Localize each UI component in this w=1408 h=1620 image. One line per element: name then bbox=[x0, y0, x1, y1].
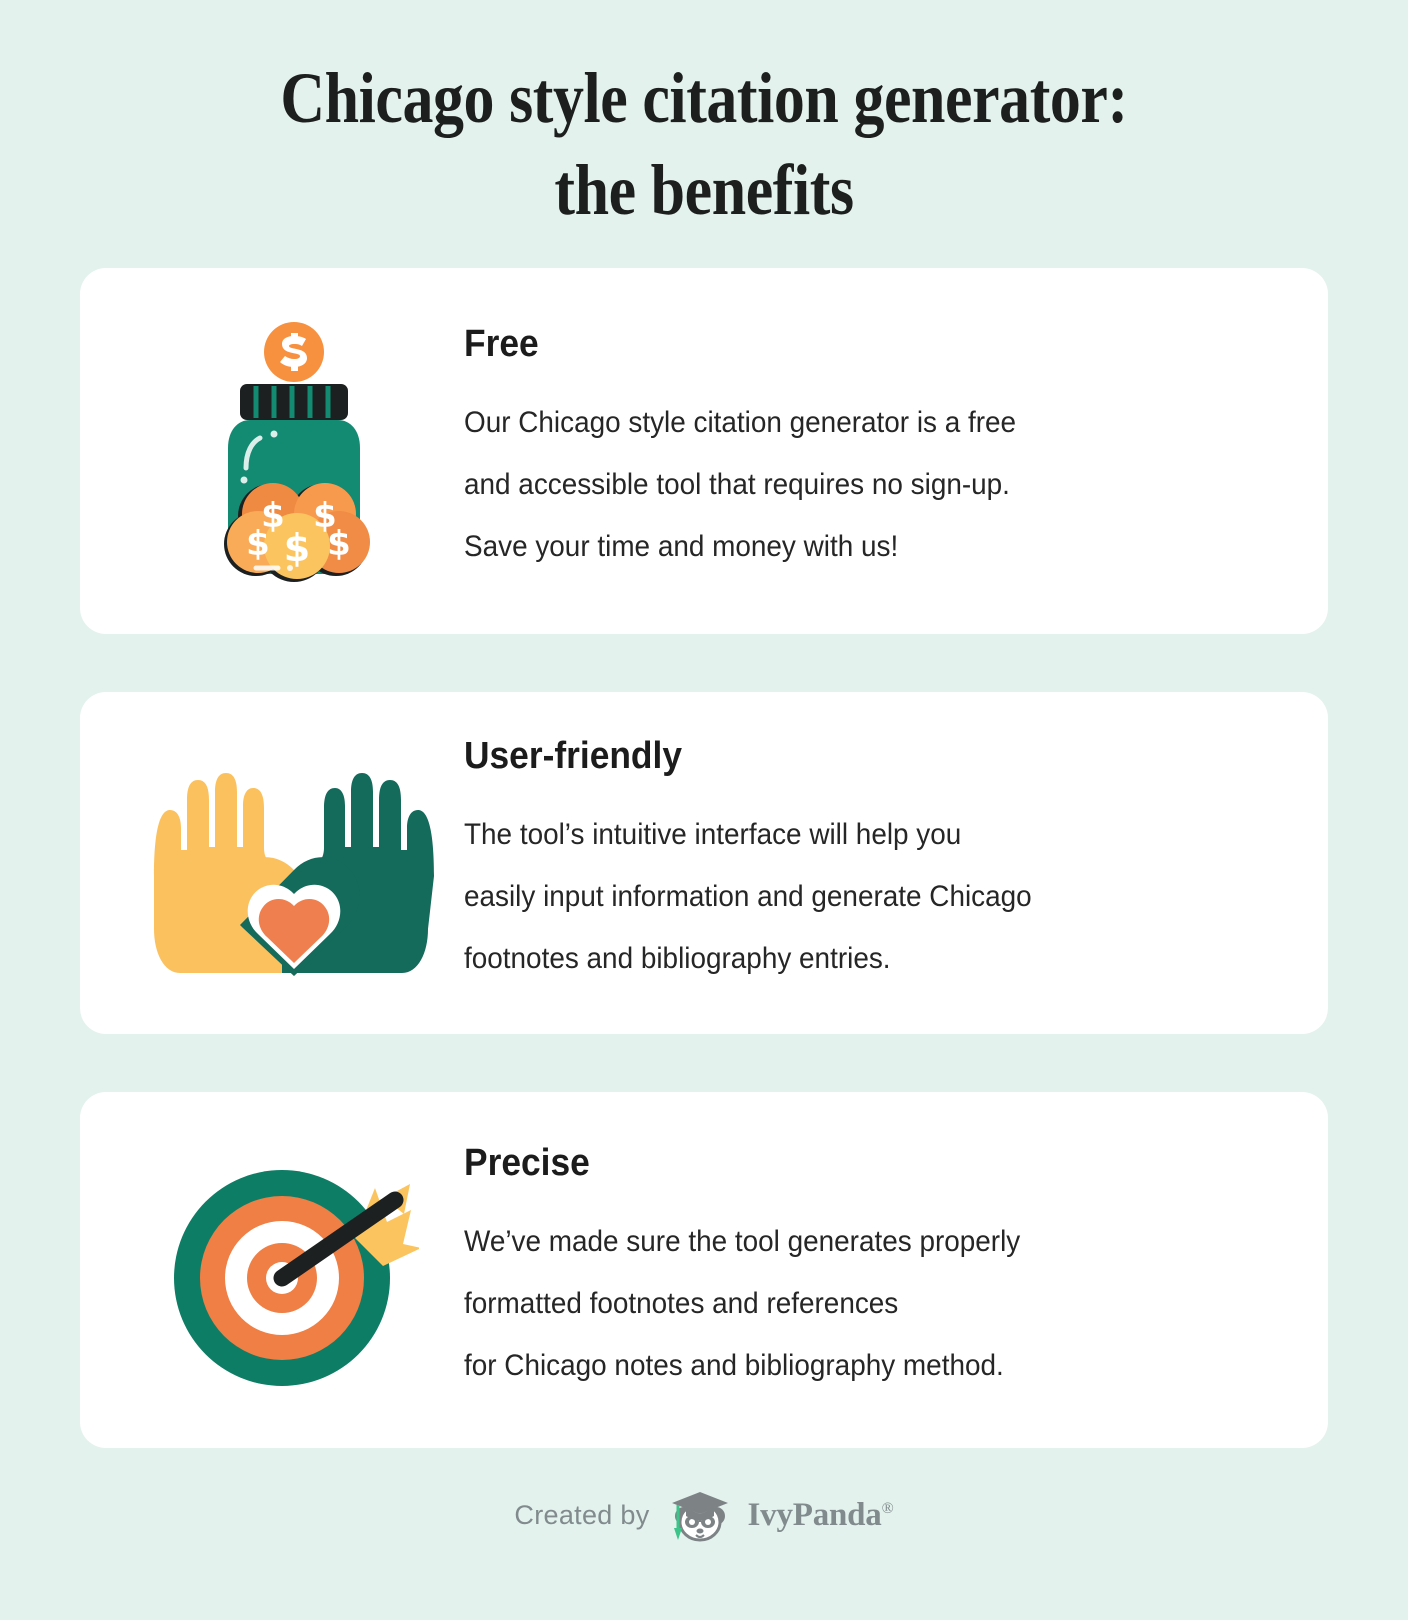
registered-trademark-mark: ® bbox=[882, 1500, 894, 1517]
money-jar-icon: $ $ $ $ $ bbox=[124, 268, 464, 634]
hands-heart-icon bbox=[124, 692, 464, 1034]
benefit-card-user-friendly: User-friendly The tool’s intuitive inter… bbox=[80, 692, 1328, 1034]
benefit-card-free: $ $ $ $ $ Free bbox=[80, 268, 1328, 634]
benefit-title: Free bbox=[464, 324, 1225, 366]
benefit-text: The tool’s intuitive interface will help… bbox=[464, 804, 1225, 990]
benefit-text: Our Chicago style citation generator is … bbox=[464, 392, 1225, 578]
page-title: Chicago style citation generator: the be… bbox=[197, 52, 1212, 236]
benefit-title: User-friendly bbox=[464, 736, 1225, 778]
benefit-title: Precise bbox=[464, 1143, 1225, 1185]
svg-text:$: $ bbox=[327, 524, 351, 564]
page-title-line-1: Chicago style citation generator: bbox=[280, 58, 1127, 138]
page-title-line-2: the benefits bbox=[554, 150, 853, 230]
benefit-card-body: User-friendly The tool’s intuitive inter… bbox=[464, 736, 1292, 990]
benefit-text: We’ve made sure the tool generates prope… bbox=[464, 1211, 1225, 1397]
ivypanda-graduate-panda-logo bbox=[666, 1484, 732, 1547]
benefit-card-precise: Precise We’ve made sure the tool generat… bbox=[80, 1092, 1328, 1448]
footer-brand-label: IvyPanda bbox=[748, 1497, 882, 1533]
benefit-card-body: Precise We’ve made sure the tool generat… bbox=[464, 1143, 1292, 1397]
target-arrow-icon bbox=[124, 1092, 464, 1448]
footer-credit: Created by bbox=[514, 1484, 893, 1547]
svg-text:$: $ bbox=[246, 524, 270, 564]
benefit-card-body: Free Our Chicago style citation generato… bbox=[464, 324, 1292, 578]
svg-text:$: $ bbox=[284, 526, 310, 570]
infographic-poster: Chicago style citation generator: the be… bbox=[0, 0, 1408, 1620]
footer-created-by-label: Created by bbox=[514, 1500, 649, 1531]
benefit-card-list: $ $ $ $ $ Free bbox=[80, 268, 1328, 1448]
footer-brand-name: IvyPanda® bbox=[748, 1497, 894, 1534]
